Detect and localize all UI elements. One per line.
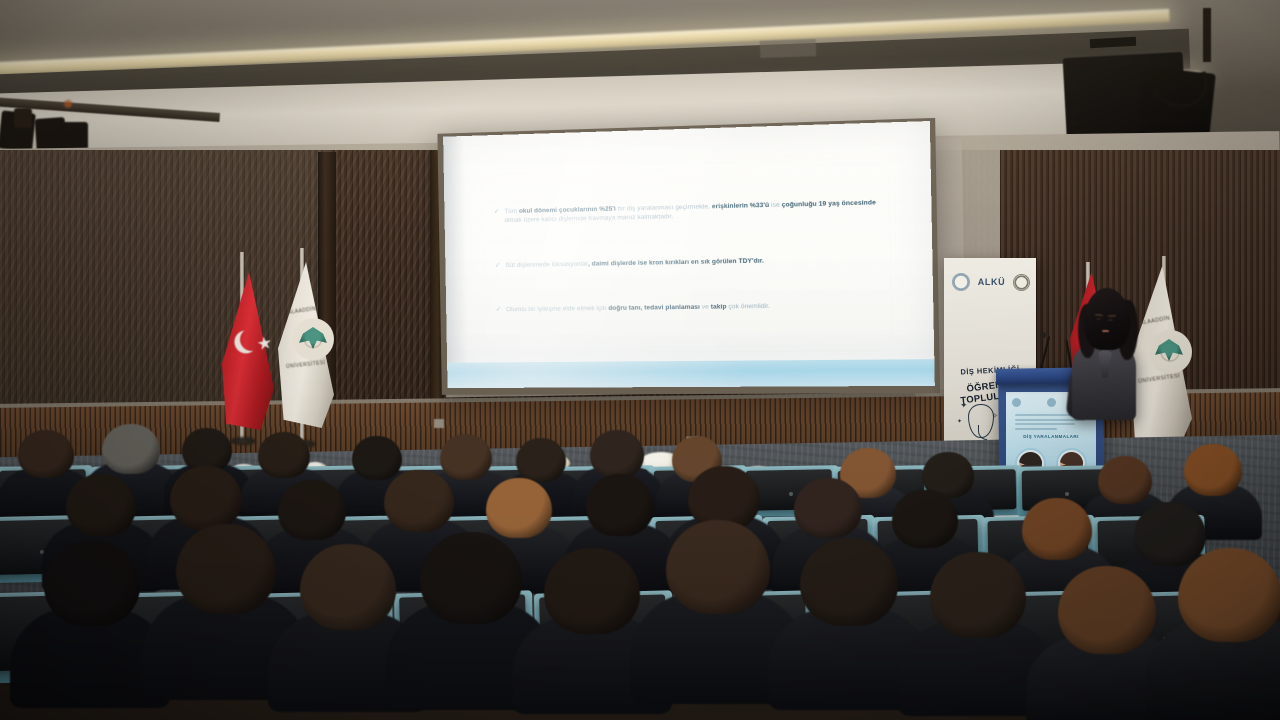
poster-photo-hair [1017, 450, 1044, 465]
speaker-eye [1096, 318, 1101, 320]
slide-bullet: ✓Tüm okul dönemi çocuklarının %25'i bir … [494, 198, 877, 226]
university-emblem-icon [292, 318, 334, 360]
slide-bullet-text: Tüm okul dönemi çocuklarının %25'i bir d… [504, 198, 876, 225]
audience-member-head [586, 474, 654, 536]
audience-member-head [102, 424, 160, 474]
poster-photo-hair [1058, 450, 1085, 465]
wall-outlet [434, 419, 444, 428]
projector-hanger [1203, 8, 1211, 62]
sparkle-icon: ✦ [960, 400, 968, 411]
checkmark-icon: ✓ [494, 207, 500, 216]
audience-member-head [44, 540, 140, 626]
audience-member-head [170, 466, 242, 530]
rollup-logo-row: ALKÜ [952, 272, 1030, 292]
flag-base [230, 437, 256, 445]
university-emblem-icon [1148, 330, 1192, 374]
seat-fixing-dot [789, 492, 793, 496]
ceiling-vent [760, 39, 817, 58]
seat-fixing-dot [1065, 492, 1069, 496]
audience-member-head [352, 436, 402, 480]
slide-content: ✓Tüm okul dönemi çocuklarının %25'i bir … [494, 198, 879, 350]
audience-member-head [176, 524, 276, 614]
speaker-hair [1084, 288, 1130, 350]
audience-member-head [66, 474, 136, 536]
audience-member-head [544, 548, 640, 634]
speaker-mouth [1102, 330, 1109, 332]
audience-member-head [300, 544, 396, 630]
slide-bullet: ✓Olumlu bir iyileşme elde etmek için doğ… [496, 301, 879, 315]
stage-light-mount [14, 108, 32, 128]
tooth-icon [968, 404, 994, 438]
audience-member-head [440, 434, 492, 480]
audience-member-head [794, 478, 862, 538]
poster-logo-icon [1012, 398, 1021, 407]
audience-member-head [930, 552, 1026, 638]
checkmark-icon: ✓ [496, 306, 502, 315]
audience-member-head [18, 430, 74, 478]
audience-member-head [1134, 502, 1206, 566]
audience-member-head [1022, 498, 1092, 560]
audience-member-head [1058, 566, 1156, 654]
poster-text-line [1015, 428, 1057, 430]
audience-member-head [384, 470, 454, 532]
audience-member-head [590, 430, 644, 478]
checkmark-icon: ✓ [495, 261, 501, 270]
auditorium-scene: ✓Tüm okul dönemi çocuklarının %25'i bir … [0, 0, 1280, 720]
slide-bullet-text: Süt dişlenmede lüksasyonlar, daimi dişle… [505, 254, 877, 270]
faculty-seal-logo-icon [1013, 274, 1030, 291]
sparkle-icon: ✦ [957, 418, 962, 425]
audience-member-head [420, 532, 522, 624]
speaker-eye [1108, 319, 1113, 321]
audience-member-head [800, 538, 898, 626]
audience-member-head [666, 520, 770, 614]
screen-edge-shadow [443, 136, 468, 388]
audience-member-head [486, 478, 552, 538]
poster-title: DİŞ YARALANMALARI [1006, 434, 1096, 439]
stage-light-indicator [64, 100, 72, 108]
poster-text-line [1015, 423, 1075, 425]
sparkle-icon: ✧ [992, 412, 998, 420]
slide-bullet-text: Olumlu bir iyileşme elde etmek için doğr… [506, 301, 878, 315]
university-seal-logo-icon [952, 273, 970, 291]
audience-member-head [516, 438, 566, 482]
audience-member-head [1178, 548, 1280, 642]
rollup-brand-text: ALKÜ [978, 277, 1005, 287]
poster-logo-icon [1047, 398, 1056, 407]
audience-member-head [1184, 444, 1242, 496]
slide-bullet: ✓Süt dişlenmede lüksasyonlar, daimi dişl… [495, 254, 877, 270]
microphone-icon [1040, 332, 1046, 338]
audience-member-head [1098, 456, 1152, 504]
projection-screen: ✓Tüm okul dönemi çocuklarının %25'i bir … [443, 121, 935, 388]
audience-member-head [258, 432, 310, 478]
audience-member-head [892, 490, 958, 548]
slide-footer-band [447, 359, 935, 388]
audience-member-head [278, 480, 346, 540]
